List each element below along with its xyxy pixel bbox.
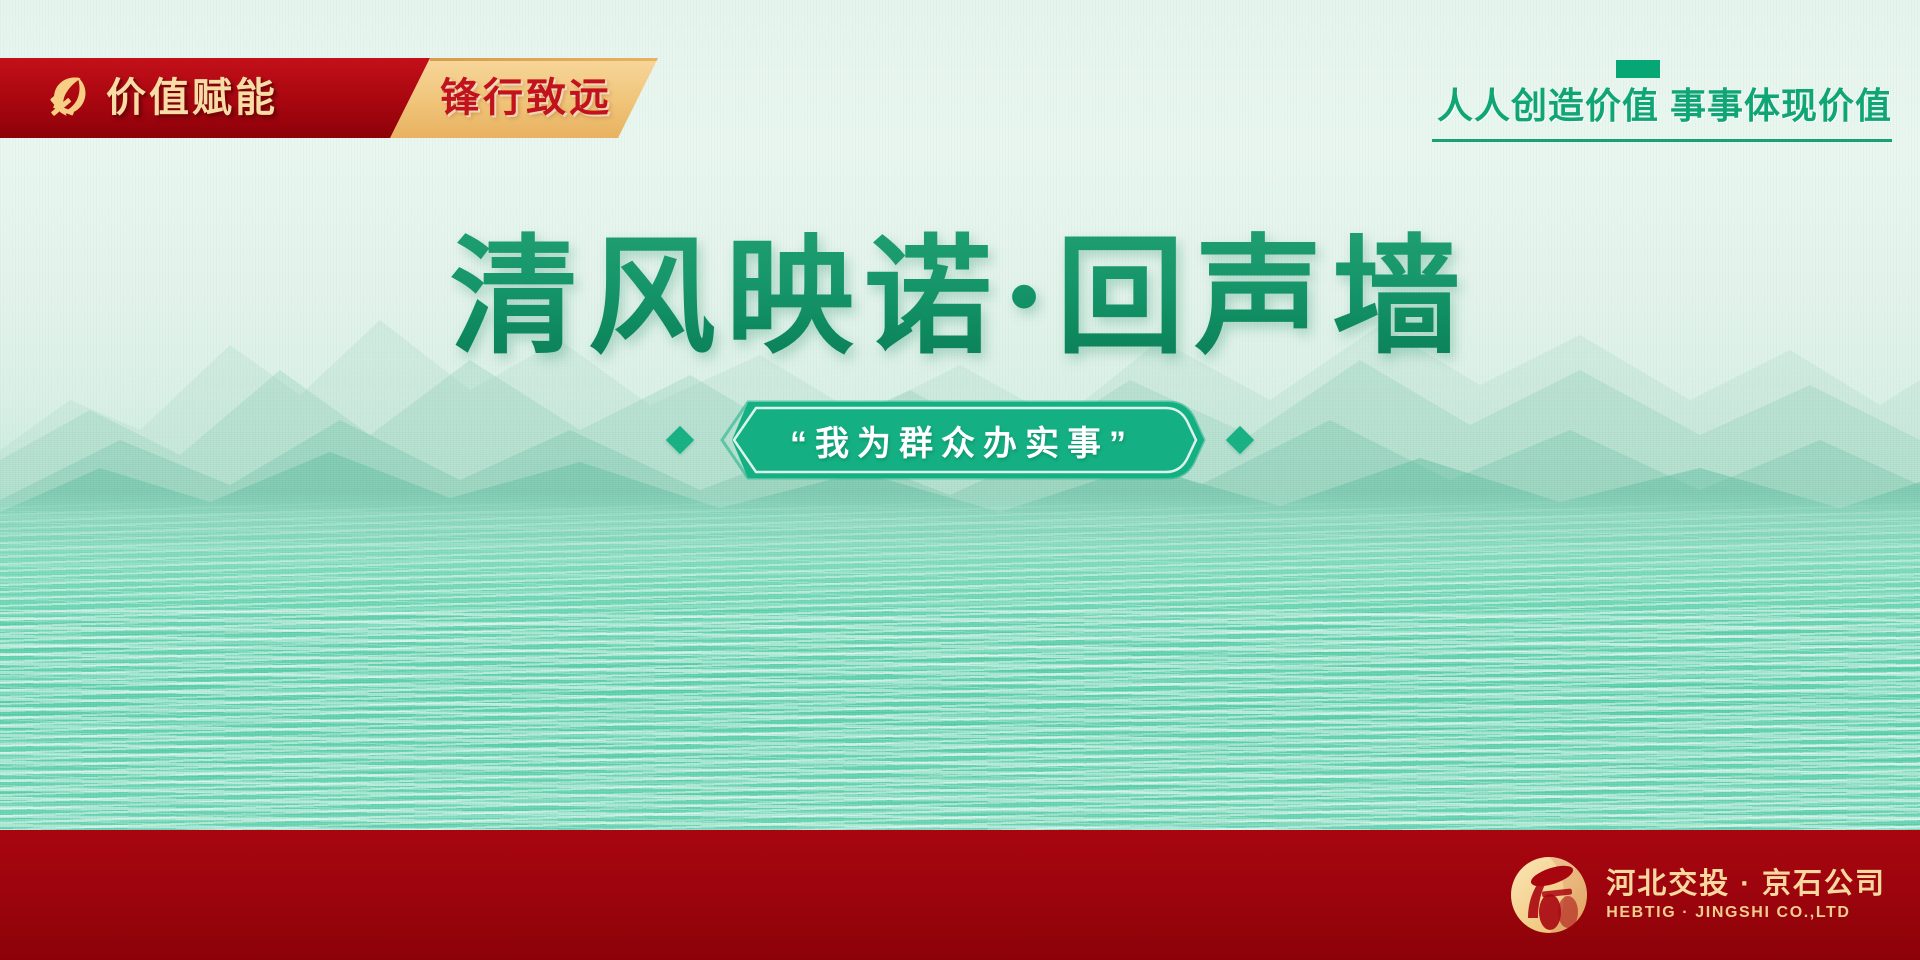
diamond-icon-left (666, 426, 694, 454)
slogan-text: 人人创造价值 事事体现价值 (1372, 82, 1892, 130)
subtitle-badge-group: “我为群众办实事” (0, 398, 1920, 482)
company-logo: 河北交投 · 京石公司 HEBTIG · JINGSHI CO.,LTD (1508, 852, 1886, 938)
page-title: 清风映诺·回声墙 (0, 222, 1920, 372)
hebtig-jingshi-logo-icon (1508, 854, 1590, 936)
slogan-ribbon: 价值赋能 锋行致远 (0, 58, 680, 138)
party-emblem-hammer-sickle-icon (40, 72, 92, 124)
water-ripples-lower (0, 610, 1920, 830)
subtitle-badge-text: “我为群众办实事” (708, 398, 1212, 482)
subtitle-badge: “我为群众办实事” (708, 398, 1212, 482)
ribbon-text-left: 价值赋能 (106, 72, 278, 124)
footer-bar: 河北交投 · 京石公司 HEBTIG · JINGSHI CO.,LTD (0, 830, 1920, 960)
company-name-en: HEBTIG · JINGSHI CO.,LTD (1606, 902, 1886, 924)
corporate-slogan: 人人创造价值 事事体现价值 (1372, 60, 1892, 142)
ribbon-text-right: 锋行致远 (440, 72, 612, 124)
slogan-accent-bar-icon (1616, 60, 1660, 78)
poster-stage: 价值赋能 锋行致远 人人创造价值 事事体现价值 清风映诺·回声墙 “我为群众办实… (0, 0, 1920, 960)
diamond-icon-right (1226, 426, 1254, 454)
company-name-block: 河北交投 · 京石公司 HEBTIG · JINGSHI CO.,LTD (1606, 866, 1886, 924)
slogan-underline (1432, 139, 1892, 142)
company-name-cn: 河北交投 · 京石公司 (1606, 866, 1886, 902)
